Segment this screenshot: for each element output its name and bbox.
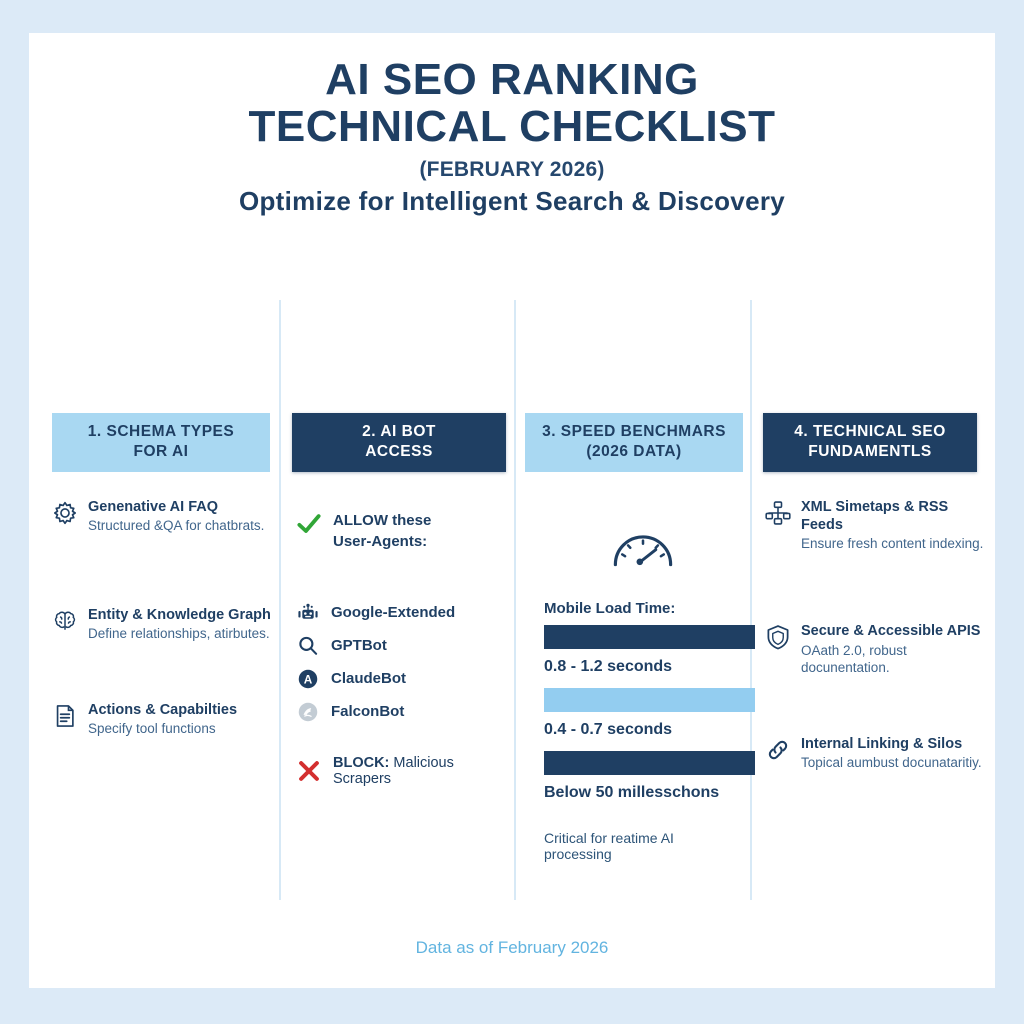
- list-item[interactable]: Actions & Capabilties Specify tool funct…: [51, 701, 275, 738]
- column-header-3-line1: 3. SPEED BENCHMARS: [531, 422, 737, 442]
- speed-bar-label: 0.4 - 0.7 seconds: [544, 721, 742, 739]
- title-date: (FEBRUARY 2026): [29, 158, 995, 182]
- list-item-title: Actions & Capabilties: [88, 702, 237, 718]
- magnifier-icon: [295, 633, 321, 659]
- metric-title: Mobile Load Time:: [544, 600, 742, 617]
- column-header-1-line2: FOR AI: [58, 442, 264, 462]
- sitemap-icon: [764, 499, 792, 527]
- brain-icon: [51, 607, 79, 635]
- speed-note: Critical for reatime AI processing: [544, 830, 742, 862]
- column-ai-bot-access: 2. AI BOT ACCESS ALLOW these User-Agents…: [281, 300, 517, 787]
- column-header-4-line1: 4. TECHNICAL SEO: [769, 422, 971, 442]
- list-item[interactable]: A ClaudeBot: [295, 666, 511, 692]
- gauge-wrap: [544, 524, 742, 574]
- robot-icon: [295, 600, 321, 626]
- list-item-title: Secure & Accessible APIS: [801, 623, 980, 639]
- list-item[interactable]: FalconBot: [295, 699, 511, 725]
- list-item[interactable]: XML Simetaps & RSS Feeds Ensure fresh co…: [764, 498, 988, 553]
- page-title-line1: AI SEO RANKING: [29, 57, 995, 104]
- allow-label-line2: User-Agents:: [333, 533, 427, 550]
- bot-label: FalconBot: [331, 703, 404, 720]
- bot-label: Google-Extended: [331, 604, 455, 621]
- column-header-2: 2. AI BOT ACCESS: [292, 413, 506, 472]
- list-item-title: Entity & Knowledge Graph: [88, 607, 271, 623]
- allow-label-line1: ALLOW these: [333, 512, 431, 529]
- list-item-subtitle: Ensure fresh content indexing.: [801, 535, 988, 553]
- column-header-1: 1. SCHEMA TYPES FOR AI: [52, 413, 270, 472]
- page-title-line2: TECHNICAL CHECKLIST: [29, 104, 995, 151]
- speed-bar-label: 0.8 - 1.2 seconds: [544, 658, 742, 676]
- list-item[interactable]: Entity & Knowledge Graph Define relation…: [51, 606, 275, 643]
- column-schema-types: 1. SCHEMA TYPES FOR AI Genenative AI FAQ…: [43, 300, 279, 738]
- columns-area: 1. SCHEMA TYPES FOR AI Genenative AI FAQ…: [29, 300, 995, 900]
- column-header-4-line2: FUNDAMENTLS: [769, 442, 971, 462]
- footer-note: Data as of February 2026: [29, 938, 995, 958]
- bot-label: GPTBot: [331, 637, 387, 654]
- bot-list: Google-Extended GPTBot: [295, 600, 511, 725]
- block-row[interactable]: BLOCK: Malicious Scrapers: [295, 755, 511, 787]
- list-item-title: Internal Linking & Silos: [801, 736, 962, 752]
- list-item[interactable]: GPTBot: [295, 633, 511, 659]
- column-header-3-line2: (2026 DATA): [531, 442, 737, 462]
- list-item[interactable]: Secure & Accessible APIS OAath 2.0, robu…: [764, 622, 988, 676]
- falcon-icon: [295, 699, 321, 725]
- list-item-title: Genenative AI FAQ: [88, 499, 218, 515]
- svg-text:A: A: [304, 673, 313, 686]
- shield-icon: [764, 623, 792, 651]
- check-icon: [295, 510, 323, 538]
- title-block: AI SEO RANKING TECHNICAL CHECKLIST (FEBR…: [29, 33, 995, 217]
- list-item-title: XML Simetaps & RSS Feeds: [801, 499, 948, 533]
- link-icon: [764, 736, 792, 764]
- speed-bar: [544, 625, 755, 649]
- circle-a-icon: A: [295, 666, 321, 692]
- block-prefix: BLOCK:: [333, 755, 389, 771]
- speed-bar: [544, 751, 755, 775]
- column-header-3: 3. SPEED BENCHMARS (2026 DATA): [525, 413, 743, 472]
- column-speed-benchmarks: 3. SPEED BENCHMARS (2026 DATA) Mobile Lo…: [516, 300, 752, 862]
- document-icon: [51, 702, 79, 730]
- list-item-subtitle: Define relationships, atirbutes.: [88, 625, 275, 643]
- gear-icon: [51, 499, 79, 527]
- x-icon: [295, 757, 323, 785]
- column-header-2-line1: 2. AI BOT: [298, 422, 500, 442]
- list-item-subtitle: OAath 2.0, robust docunentation.: [801, 642, 988, 677]
- column-header-1-line1: 1. SCHEMA TYPES: [58, 422, 264, 442]
- allow-row: ALLOW these User-Agents:: [295, 510, 511, 552]
- page-subtitle: Optimize for Intelligent Search & Discov…: [29, 186, 995, 217]
- list-item-subtitle: Topical aumbust docunataritiy.: [801, 754, 988, 772]
- list-item-subtitle: Specify tool functions: [88, 720, 275, 738]
- list-item[interactable]: Genenative AI FAQ Structured &QA for cha…: [51, 498, 275, 535]
- list-item-subtitle: Structured &QA for chatbrats.: [88, 517, 275, 535]
- infographic-card: AI SEO RANKING TECHNICAL CHECKLIST (FEBR…: [29, 33, 995, 988]
- bot-label: ClaudeBot: [331, 670, 406, 687]
- column-technical-seo: 4. TECHNICAL SEO FUNDAMENTLS: [752, 300, 988, 771]
- list-item[interactable]: Google-Extended: [295, 600, 511, 626]
- column-header-2-line2: ACCESS: [298, 442, 500, 462]
- speed-bar-label: Below 50 millesschons: [544, 784, 742, 802]
- speed-bar: [544, 688, 755, 712]
- speedometer-icon: [609, 524, 677, 569]
- list-item[interactable]: Internal Linking & Silos Topical aumbust…: [764, 735, 988, 772]
- column-header-4: 4. TECHNICAL SEO FUNDAMENTLS: [763, 413, 977, 472]
